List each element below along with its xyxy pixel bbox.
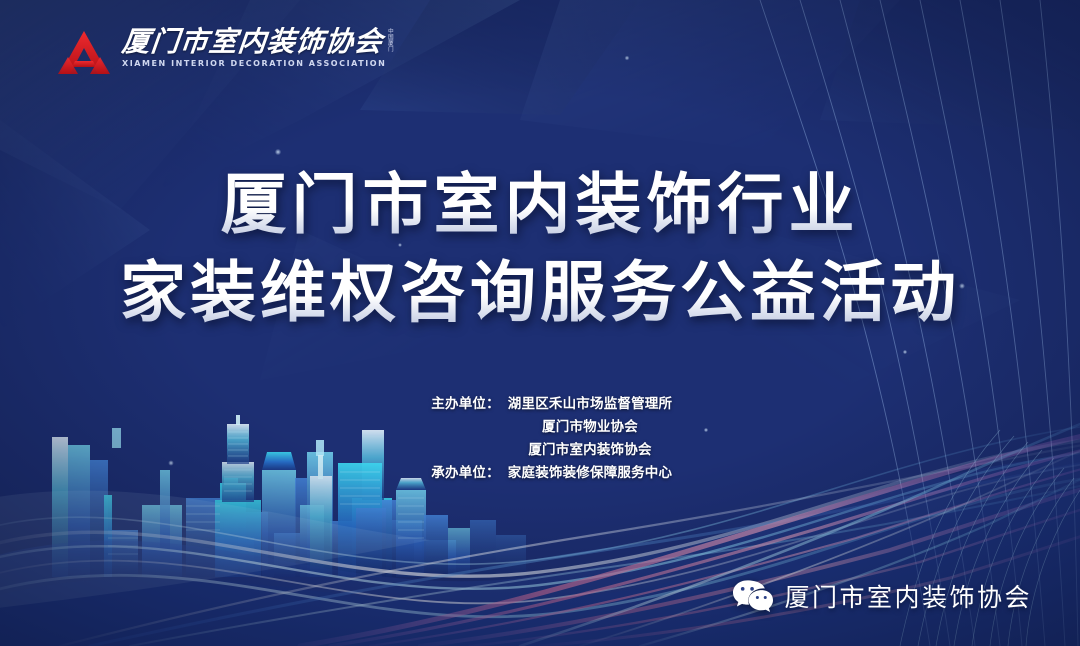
organiser-row: 主办单位： 厦门市室内装饰协会: [428, 438, 651, 458]
association-logo: 厦门市室内装饰协会 中国厦门 XIAMEN INTERIOR DECORATIO…: [56, 26, 393, 78]
logo-text-column: 厦门市室内装饰协会 中国厦门 XIAMEN INTERIOR DECORATIO…: [122, 26, 393, 68]
organiser-value: 湖里区禾山市场监督管理所: [500, 392, 672, 412]
organiser-value: 厦门市室内装饰协会: [520, 438, 651, 458]
organiser-label: 承办单位：: [408, 461, 500, 481]
wechat-account-name: 厦门市室内装饰协会: [784, 578, 1032, 614]
page-title: 厦门市室内装饰行业 家装维权咨询服务公益活动: [0, 168, 1080, 330]
organiser-row: 主办单位： 湖里区禾山市场监督管理所: [408, 392, 672, 412]
wechat-icon: [733, 579, 773, 613]
logo-chinese-subtext: 中国厦门: [386, 28, 393, 52]
organiser-value: 家庭装饰装修保障服务中心: [500, 461, 672, 481]
organiser-value: 厦门市物业协会: [534, 415, 638, 435]
event-poster-banner: 厦门市室内装饰协会 中国厦门 XIAMEN INTERIOR DECORATIO…: [0, 0, 1080, 646]
organiser-label: 主办单位：: [408, 392, 500, 412]
headline-line-1: 厦门市室内装饰行业: [0, 168, 1080, 242]
organiser-list: 主办单位： 湖里区禾山市场监督管理所 主办单位： 厦门市物业协会 主办单位： 厦…: [0, 392, 1080, 481]
organiser-row: 主办单位： 厦门市物业协会: [442, 415, 638, 435]
headline-line-2: 家装维权咨询服务公益活动: [0, 256, 1080, 330]
wechat-account-badge[interactable]: 厦门市室内装饰协会: [733, 578, 1032, 614]
logo-chinese-row: 厦门市室内装饰协会 中国厦门: [122, 28, 393, 56]
logo-chinese-name: 厦门市室内装饰协会: [121, 28, 385, 56]
organiser-row: 承办单位： 家庭装饰装修保障服务中心: [408, 461, 672, 481]
logo-english-name: XIAMEN INTERIOR DECORATION ASSOCIATION: [122, 59, 393, 68]
xiamen-interior-decoration-association-logo-icon: [56, 28, 112, 78]
